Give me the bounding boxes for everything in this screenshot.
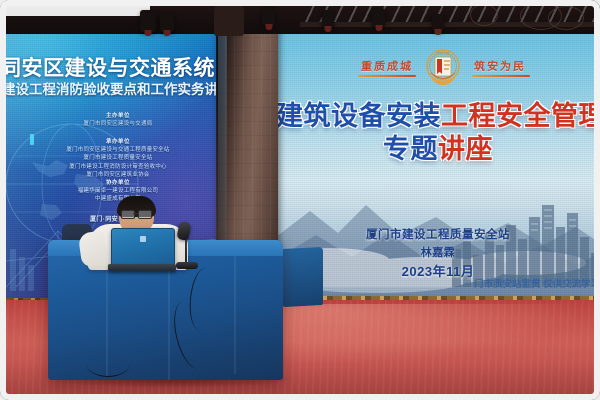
presenting-organization: 厦门市建设工程质量安全站 <box>276 226 600 242</box>
drape-fold <box>234 256 236 374</box>
main-title-red-2: 讲座 <box>438 134 493 164</box>
organizer-block-host: 主办单位 厦门市同安区建设与交通局 <box>12 112 218 128</box>
lens-right <box>138 210 152 219</box>
slogan-right: 筑安为民 <box>473 58 526 74</box>
organizer-heading: 主办单位 <box>12 112 218 120</box>
stage-light <box>140 10 156 32</box>
table-right-extension <box>283 247 323 307</box>
presenter-arm <box>78 230 108 267</box>
stage-light <box>160 12 174 32</box>
lens-left <box>121 210 135 219</box>
right-led-screen: 重质成城 质量安全 筑安为民 建筑设备安装工程安全管理 <box>276 14 600 305</box>
stage-light <box>322 10 334 28</box>
speaker-box <box>214 6 244 36</box>
speaker-name: 林嘉霖 <box>276 244 600 260</box>
slogan-underline-left <box>358 75 416 77</box>
organizer-line: 厦门市同安区建设与交通工程质量安全站 <box>12 146 218 154</box>
rigging-cable <box>470 4 498 26</box>
laptop-lid <box>111 228 175 267</box>
organizer-line: 厦门市同安区建筑业协会 <box>12 171 218 179</box>
cable <box>86 350 130 377</box>
organizer-heading: 协办单位 <box>12 179 218 187</box>
organizer-line: 厦门市建设工程消防设计审查验收中心 <box>12 163 218 171</box>
microphone-base <box>176 262 198 269</box>
organizer-block-coorganizer: 承办单位 厦门市同安区建设与交通工程质量安全站 厦门市建设工程质量安全站 厦门市… <box>12 138 218 179</box>
laptop-base <box>108 264 176 271</box>
stage-light <box>372 8 385 27</box>
organizer-line: 福建华闽卓一建设工程有限公司 <box>12 187 218 195</box>
organizer-line: 厦门市建设工程质量安全站 <box>12 154 218 162</box>
organizer-heading: 承办单位 <box>12 138 218 146</box>
rigging-cable <box>548 6 584 30</box>
drape-fold <box>168 256 170 380</box>
photo-frame: 同安区建设与交通系统 建设工程消防验收要点和工作实务讲座 主办单位 厦门市同安区… <box>0 0 600 400</box>
screenshot-root: 同安区建设与交通系统 建设工程消防验收要点和工作实务讲座 主办单位 厦门市同安区… <box>0 0 600 400</box>
stage-light <box>432 14 444 31</box>
svg-text:质量安全: 质量安全 <box>437 50 451 55</box>
slogan-underline-right <box>472 75 530 77</box>
eyeglasses-icon <box>121 210 152 217</box>
ceiling-left-edge <box>0 0 150 16</box>
watermark-text: 门市质安站宣贯 仅供交流学习 <box>474 276 600 290</box>
laptop-logo-icon <box>140 236 146 242</box>
left-screen-subtitle: 建设工程消防验收要点和工作实务讲座 <box>6 78 218 98</box>
main-title-blue-2: 专题 <box>383 134 438 164</box>
quality-safety-emblem-icon: 质量安全 <box>421 47 465 91</box>
main-title-line-2: 专题讲座 <box>276 127 600 166</box>
organizer-line: 厦门市同安区建设与交通局 <box>12 120 218 128</box>
slogan-left: 重质成城 <box>360 58 413 74</box>
emblem-row: 重质成城 质量安全 筑安为民 <box>276 50 600 90</box>
laptop[interactable] <box>108 228 176 272</box>
stage-light <box>262 6 275 26</box>
